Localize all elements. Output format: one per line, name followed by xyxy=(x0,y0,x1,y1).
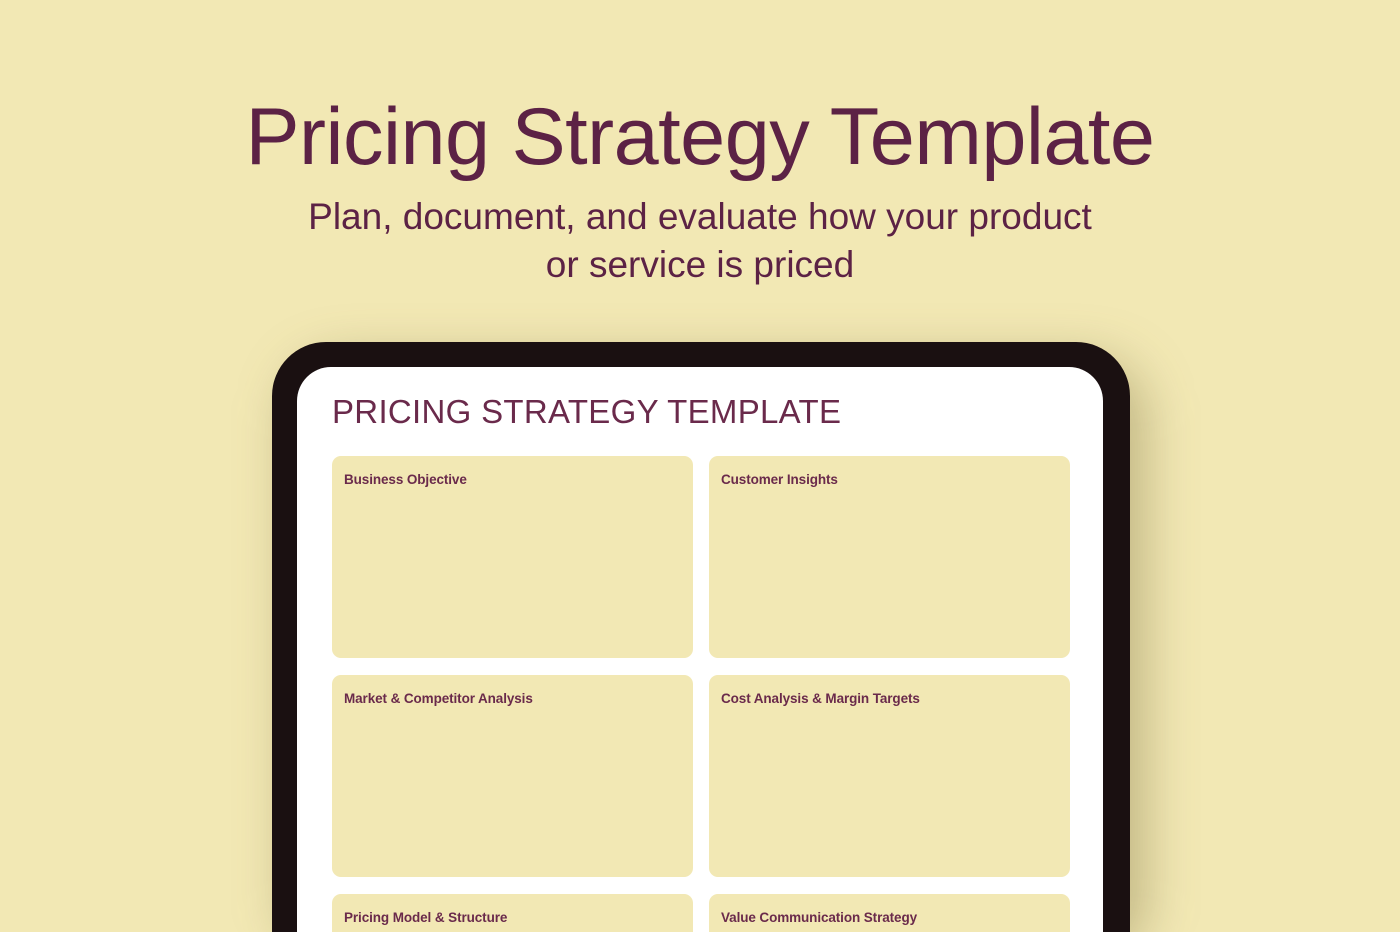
template-card[interactable]: Business Objective xyxy=(332,456,693,658)
page-root: Pricing Strategy Template Plan, document… xyxy=(0,0,1400,932)
page-subtitle-line-2: or service is priced xyxy=(0,241,1400,289)
device-mockup-frame: PRICING STRATEGY TEMPLATE Business Objec… xyxy=(272,342,1130,932)
page-subtitle: Plan, document, and evaluate how your pr… xyxy=(0,179,1400,289)
card-label: Market & Competitor Analysis xyxy=(344,691,693,706)
device-screen: PRICING STRATEGY TEMPLATE Business Objec… xyxy=(297,367,1103,932)
card-label: Business Objective xyxy=(344,472,693,487)
template-card[interactable]: Value Communication Strategy xyxy=(709,894,1070,932)
card-label: Value Communication Strategy xyxy=(721,910,1070,925)
page-title: Pricing Strategy Template xyxy=(0,0,1400,179)
template-card[interactable]: Customer Insights xyxy=(709,456,1070,658)
hero-section: Pricing Strategy Template Plan, document… xyxy=(0,0,1400,289)
template-card[interactable]: Cost Analysis & Margin Targets xyxy=(709,675,1070,877)
page-subtitle-line-1: Plan, document, and evaluate how your pr… xyxy=(0,193,1400,241)
card-label: Cost Analysis & Margin Targets xyxy=(721,691,1070,706)
template-heading: PRICING STRATEGY TEMPLATE xyxy=(332,391,1069,431)
card-label: Pricing Model & Structure xyxy=(344,910,693,925)
template-card[interactable]: Market & Competitor Analysis xyxy=(332,675,693,877)
card-label: Customer Insights xyxy=(721,472,1070,487)
template-card[interactable]: Pricing Model & Structure xyxy=(332,894,693,932)
template-card-grid: Business Objective Customer Insights Mar… xyxy=(332,456,1069,932)
